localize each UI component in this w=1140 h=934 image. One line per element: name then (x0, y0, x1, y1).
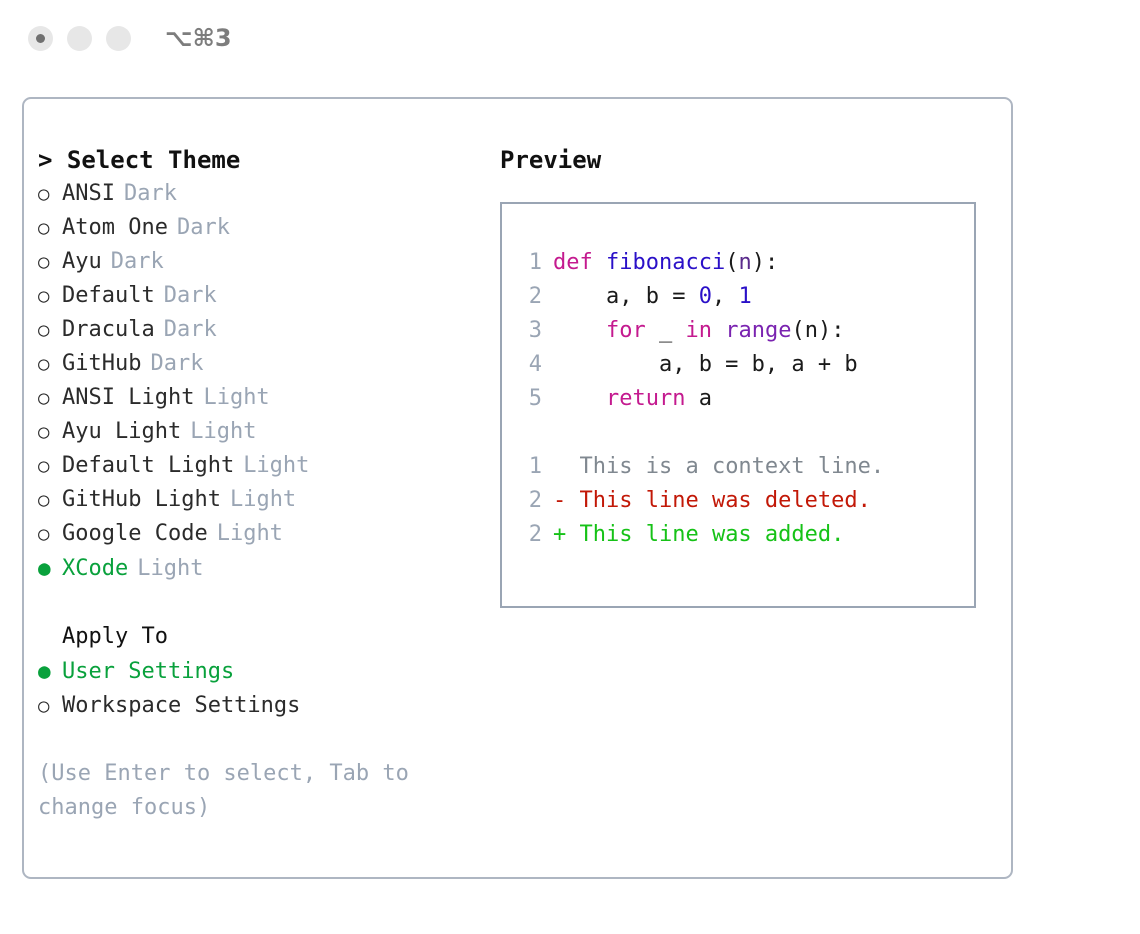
apply-to-item-label: User Settings (62, 655, 234, 689)
preview-column: Preview 1def fibonacci(n):2 a, b = 0, 13… (500, 143, 1000, 608)
token-fn: fibonacci (606, 250, 725, 275)
radio-unselected-icon: ○ (38, 415, 62, 449)
diff-line-add: 2+ This line was added. (516, 518, 974, 552)
radio-unselected-icon: ○ (38, 347, 62, 381)
theme-item-label: Default (62, 279, 155, 313)
apply-to-item-workspace-settings[interactable]: ○Workspace Settings (38, 689, 498, 723)
theme-item-label: GitHub Light (62, 483, 221, 517)
theme-item-default-light[interactable]: ○Default LightLight (38, 449, 498, 483)
radio-unselected-icon: ○ (38, 211, 62, 245)
code-sample: 1def fibonacci(n):2 a, b = 0, 13 for _ i… (516, 246, 974, 416)
theme-item-tag: Dark (111, 245, 164, 279)
token-kw: return (606, 386, 685, 411)
apply-to-item-label: Workspace Settings (62, 689, 300, 723)
token-var: n (738, 250, 751, 275)
radio-selected-icon: ● (38, 551, 62, 585)
line-number: 2 (516, 518, 542, 552)
token-plain (553, 386, 606, 411)
line-number: 5 (516, 382, 542, 416)
code-line: 2 a, b = 0, 1 (516, 280, 974, 314)
token-plain: _ (646, 318, 686, 343)
theme-item-tag: Dark (164, 279, 217, 313)
diff-sample: 1 This is a context line.2- This line wa… (516, 450, 974, 552)
preview-title: Preview (500, 143, 1000, 177)
theme-item-xcode[interactable]: ●XCodeLight (38, 551, 498, 586)
theme-list: ○ANSIDark○Atom OneDark○AyuDark○DefaultDa… (38, 177, 498, 586)
line-number: 1 (516, 450, 542, 484)
radio-unselected-icon: ○ (38, 177, 62, 211)
radio-unselected-icon: ○ (38, 449, 62, 483)
token-plain: a, b = b, a + b (553, 352, 858, 377)
line-number: 2 (516, 484, 542, 518)
radio-unselected-icon: ○ (38, 517, 62, 551)
window-dot-active-icon[interactable] (28, 26, 53, 51)
token-plain (553, 318, 606, 343)
diff-text: This line was added. (566, 518, 844, 552)
window-controls (28, 26, 131, 51)
theme-item-tag: Dark (164, 313, 217, 347)
code-text: a, b = b, a + b (553, 348, 858, 382)
token-plain: (n): (791, 318, 844, 343)
theme-item-label: ANSI (62, 177, 115, 211)
theme-item-google-code[interactable]: ○Google CodeLight (38, 517, 498, 551)
theme-item-label: Dracula (62, 313, 155, 347)
theme-item-default[interactable]: ○DefaultDark (38, 279, 498, 313)
keyboard-shortcut-label: ⌥⌘3 (165, 24, 232, 52)
theme-item-github-light[interactable]: ○GitHub LightLight (38, 483, 498, 517)
theme-item-tag: Dark (150, 347, 203, 381)
panel-columns: > Select Theme ○ANSIDark○Atom OneDark○Ay… (24, 99, 1011, 877)
theme-item-tag: Dark (124, 177, 177, 211)
radio-unselected-icon: ○ (38, 381, 62, 415)
main-panel: > Select Theme ○ANSIDark○Atom OneDark○Ay… (22, 97, 1013, 879)
radio-unselected-icon: ○ (38, 245, 62, 279)
diff-sign: - (553, 484, 566, 518)
theme-item-label: Google Code (62, 517, 208, 551)
token-cls: range (725, 318, 791, 343)
apply-to-list: ●User Settings○Workspace Settings (38, 654, 498, 723)
theme-item-tag: Light (190, 415, 256, 449)
code-line: 5 return a (516, 382, 974, 416)
code-text: def fibonacci(n): (553, 246, 778, 280)
token-plain: a (685, 386, 712, 411)
line-number: 1 (516, 246, 542, 280)
theme-item-tag: Light (243, 449, 309, 483)
token-plain (712, 318, 725, 343)
line-number: 3 (516, 314, 542, 348)
line-number: 2 (516, 280, 542, 314)
theme-item-tag: Dark (177, 211, 230, 245)
theme-item-label: Ayu (62, 245, 102, 279)
diff-text: This is a context line. (566, 450, 884, 484)
code-line: 3 for _ in range(n): (516, 314, 974, 348)
window-dot-inner (36, 34, 45, 43)
theme-item-label: ANSI Light (62, 381, 194, 415)
code-diff-separator (516, 416, 974, 450)
theme-picker-column: > Select Theme ○ANSIDark○Atom OneDark○Ay… (38, 143, 498, 825)
code-text: for _ in range(n): (553, 314, 844, 348)
token-kw: for (606, 318, 646, 343)
diff-sign (553, 450, 566, 484)
theme-item-ayu[interactable]: ○AyuDark (38, 245, 498, 279)
window-dot-third-icon[interactable] (106, 26, 131, 51)
theme-item-ayu-light[interactable]: ○Ayu LightLight (38, 415, 498, 449)
token-plain: ): (752, 250, 779, 275)
theme-item-github[interactable]: ○GitHubDark (38, 347, 498, 381)
radio-selected-icon: ● (38, 654, 62, 688)
apply-to-item-user-settings[interactable]: ●User Settings (38, 654, 498, 689)
theme-item-ansi[interactable]: ○ANSIDark (38, 177, 498, 211)
token-plain: , (712, 284, 739, 309)
theme-item-tag: Light (137, 552, 203, 586)
token-kw: in (685, 318, 712, 343)
theme-item-tag: Light (217, 517, 283, 551)
code-line: 4 a, b = b, a + b (516, 348, 974, 382)
theme-item-tag: Light (230, 483, 296, 517)
line-number: 4 (516, 348, 542, 382)
theme-item-dracula[interactable]: ○DraculaDark (38, 313, 498, 347)
token-num: 1 (738, 284, 751, 309)
diff-sign: + (553, 518, 566, 552)
theme-item-label: Atom One (62, 211, 168, 245)
keyboard-hint: (Use Enter to select, Tab to change focu… (38, 757, 453, 825)
token-plain: ( (725, 250, 738, 275)
code-text: a, b = 0, 1 (553, 280, 752, 314)
theme-item-label: GitHub (62, 347, 141, 381)
theme-item-atom-one[interactable]: ○Atom OneDark (38, 211, 498, 245)
theme-item-label: Default Light (62, 449, 234, 483)
token-plain: a, b = (553, 284, 699, 309)
window-titlebar: ⌥⌘3 (0, 0, 1140, 78)
code-line: 1def fibonacci(n): (516, 246, 974, 280)
radio-unselected-icon: ○ (38, 689, 62, 723)
theme-item-label: Ayu Light (62, 415, 181, 449)
diff-line-ctx: 1 This is a context line. (516, 450, 974, 484)
list-spacer (38, 586, 498, 620)
apply-to-title: Apply To (38, 620, 498, 654)
radio-unselected-icon: ○ (38, 279, 62, 313)
code-text: return a (553, 382, 712, 416)
theme-item-tag: Light (203, 381, 269, 415)
token-kw: def (553, 250, 606, 275)
code-preview-box: 1def fibonacci(n):2 a, b = 0, 13 for _ i… (500, 202, 976, 608)
radio-unselected-icon: ○ (38, 313, 62, 347)
theme-item-label: XCode (62, 552, 128, 586)
theme-picker-header: > Select Theme (38, 143, 498, 177)
diff-line-del: 2- This line was deleted. (516, 484, 974, 518)
app-window: ⌥⌘3 > Select Theme ○ANSIDark○Atom OneDar… (0, 0, 1140, 934)
radio-unselected-icon: ○ (38, 483, 62, 517)
window-dot-second-icon[interactable] (67, 26, 92, 51)
token-num: 0 (699, 284, 712, 309)
diff-text: This line was deleted. (566, 484, 871, 518)
theme-item-ansi-light[interactable]: ○ANSI LightLight (38, 381, 498, 415)
